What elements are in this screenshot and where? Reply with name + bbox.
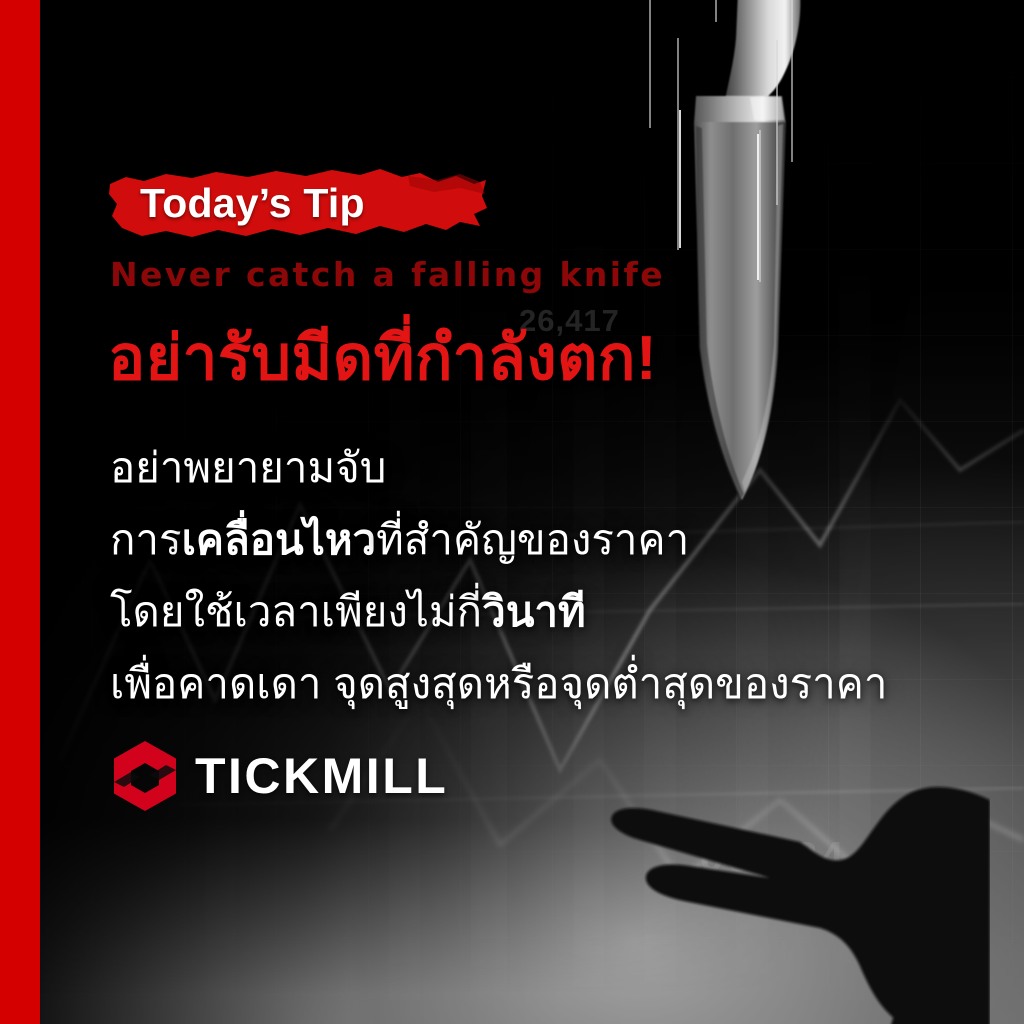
body-copy: อย่าพยายามจับ การเคลื่อนไหวที่สำคัญของรา… xyxy=(110,432,970,720)
body-line-2-bold: เคลื่อนไหว xyxy=(182,516,377,563)
body-line-2: การเคลื่อนไหวที่สำคัญของราคา xyxy=(110,504,970,576)
tickmill-logo: TICKMILL xyxy=(112,740,448,812)
tickmill-wordmark: TICKMILL xyxy=(195,750,448,802)
subtitle-english: Never catch a falling knife xyxy=(110,255,665,294)
body-line-3: โดยใช้เวลาเพียงไม่กี่วินาที xyxy=(110,576,970,648)
todays-tip-badge: Today’s Tip xyxy=(108,168,488,238)
body-line-1: อย่าพยายามจับ xyxy=(110,432,970,504)
body-line-4: เพื่อคาดเดา จุดสูงสุดหรือจุดต่ำสุดของราค… xyxy=(110,648,970,720)
body-line-3-bold: วินาที xyxy=(482,588,586,635)
body-line-2-post: ที่สำคัญของราคา xyxy=(376,516,689,563)
content-block: Today’s Tip Never catch a falling knife … xyxy=(108,0,988,1024)
tickmill-hexagon-icon xyxy=(112,740,178,812)
body-line-3-pre: โดยใช้เวลาเพียงไม่กี่ xyxy=(110,588,482,635)
body-line-2-pre: การ xyxy=(110,516,182,563)
left-red-accent-bar xyxy=(0,0,40,1024)
headline-thai: อย่ารับมีดที่กำลังตก! xyxy=(108,323,657,395)
poster-canvas: 26,417 06.984 xyxy=(0,0,1024,1024)
todays-tip-label: Today’s Tip xyxy=(140,180,365,226)
